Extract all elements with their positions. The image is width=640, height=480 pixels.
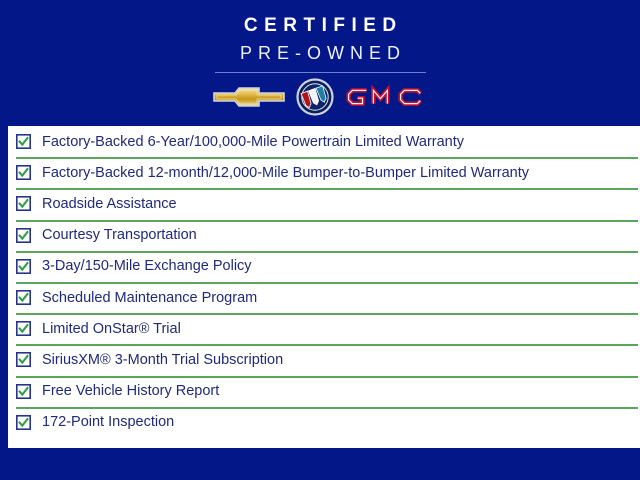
list-item: SiriusXM® 3-Month Trial Subscription [8,344,640,375]
feature-label: Factory-Backed 6-Year/100,000-Mile Power… [42,134,464,150]
feature-label: SiriusXM® 3-Month Trial Subscription [42,352,283,368]
list-item: Factory-Backed 6-Year/100,000-Mile Power… [8,126,640,157]
list-item: Factory-Backed 12-month/12,000-Mile Bump… [8,157,640,188]
checkbox-checked-icon [16,352,31,367]
list-item: Courtesy Transportation [8,220,640,251]
list-item: Roadside Assistance [8,188,640,219]
feature-label: Courtesy Transportation [42,227,197,243]
checkbox-checked-icon [16,321,31,336]
feature-label: Roadside Assistance [42,196,177,212]
list-item: 172-Point Inspection [8,407,640,438]
list-item: Limited OnStar® Trial [8,313,640,344]
feature-label: 172-Point Inspection [42,414,174,430]
buick-logo [296,78,334,116]
feature-label: Factory-Backed 12-month/12,000-Mile Bump… [42,165,529,181]
feature-label: 3-Day/150-Mile Exchange Policy [42,258,252,274]
gmc-logo [344,84,428,110]
title-divider [215,72,426,73]
features-panel: Factory-Backed 6-Year/100,000-Mile Power… [8,126,640,448]
checkbox-checked-icon [16,384,31,399]
feature-list: Factory-Backed 6-Year/100,000-Mile Power… [8,126,640,438]
feature-label: Scheduled Maintenance Program [42,290,257,306]
banner-header: CERTIFIED PRE-OWNED [0,0,640,126]
feature-label: Limited OnStar® Trial [42,321,181,337]
checkbox-checked-icon [16,415,31,430]
page-subtitle: PRE-OWNED [0,42,640,64]
chevrolet-logo [212,81,286,113]
brand-logo-strip [0,78,640,116]
page-title: CERTIFIED [0,15,640,37]
checkbox-checked-icon [16,134,31,149]
checkbox-checked-icon [16,290,31,305]
banner-footer [0,448,640,480]
list-item: Scheduled Maintenance Program [8,282,640,313]
feature-label: Free Vehicle History Report [42,383,219,399]
list-item: Free Vehicle History Report [8,376,640,407]
checkbox-checked-icon [16,228,31,243]
certified-pre-owned-banner: CERTIFIED PRE-OWNED [0,0,640,480]
checkbox-checked-icon [16,196,31,211]
checkbox-checked-icon [16,259,31,274]
list-item: 3-Day/150-Mile Exchange Policy [8,251,640,282]
checkbox-checked-icon [16,165,31,180]
